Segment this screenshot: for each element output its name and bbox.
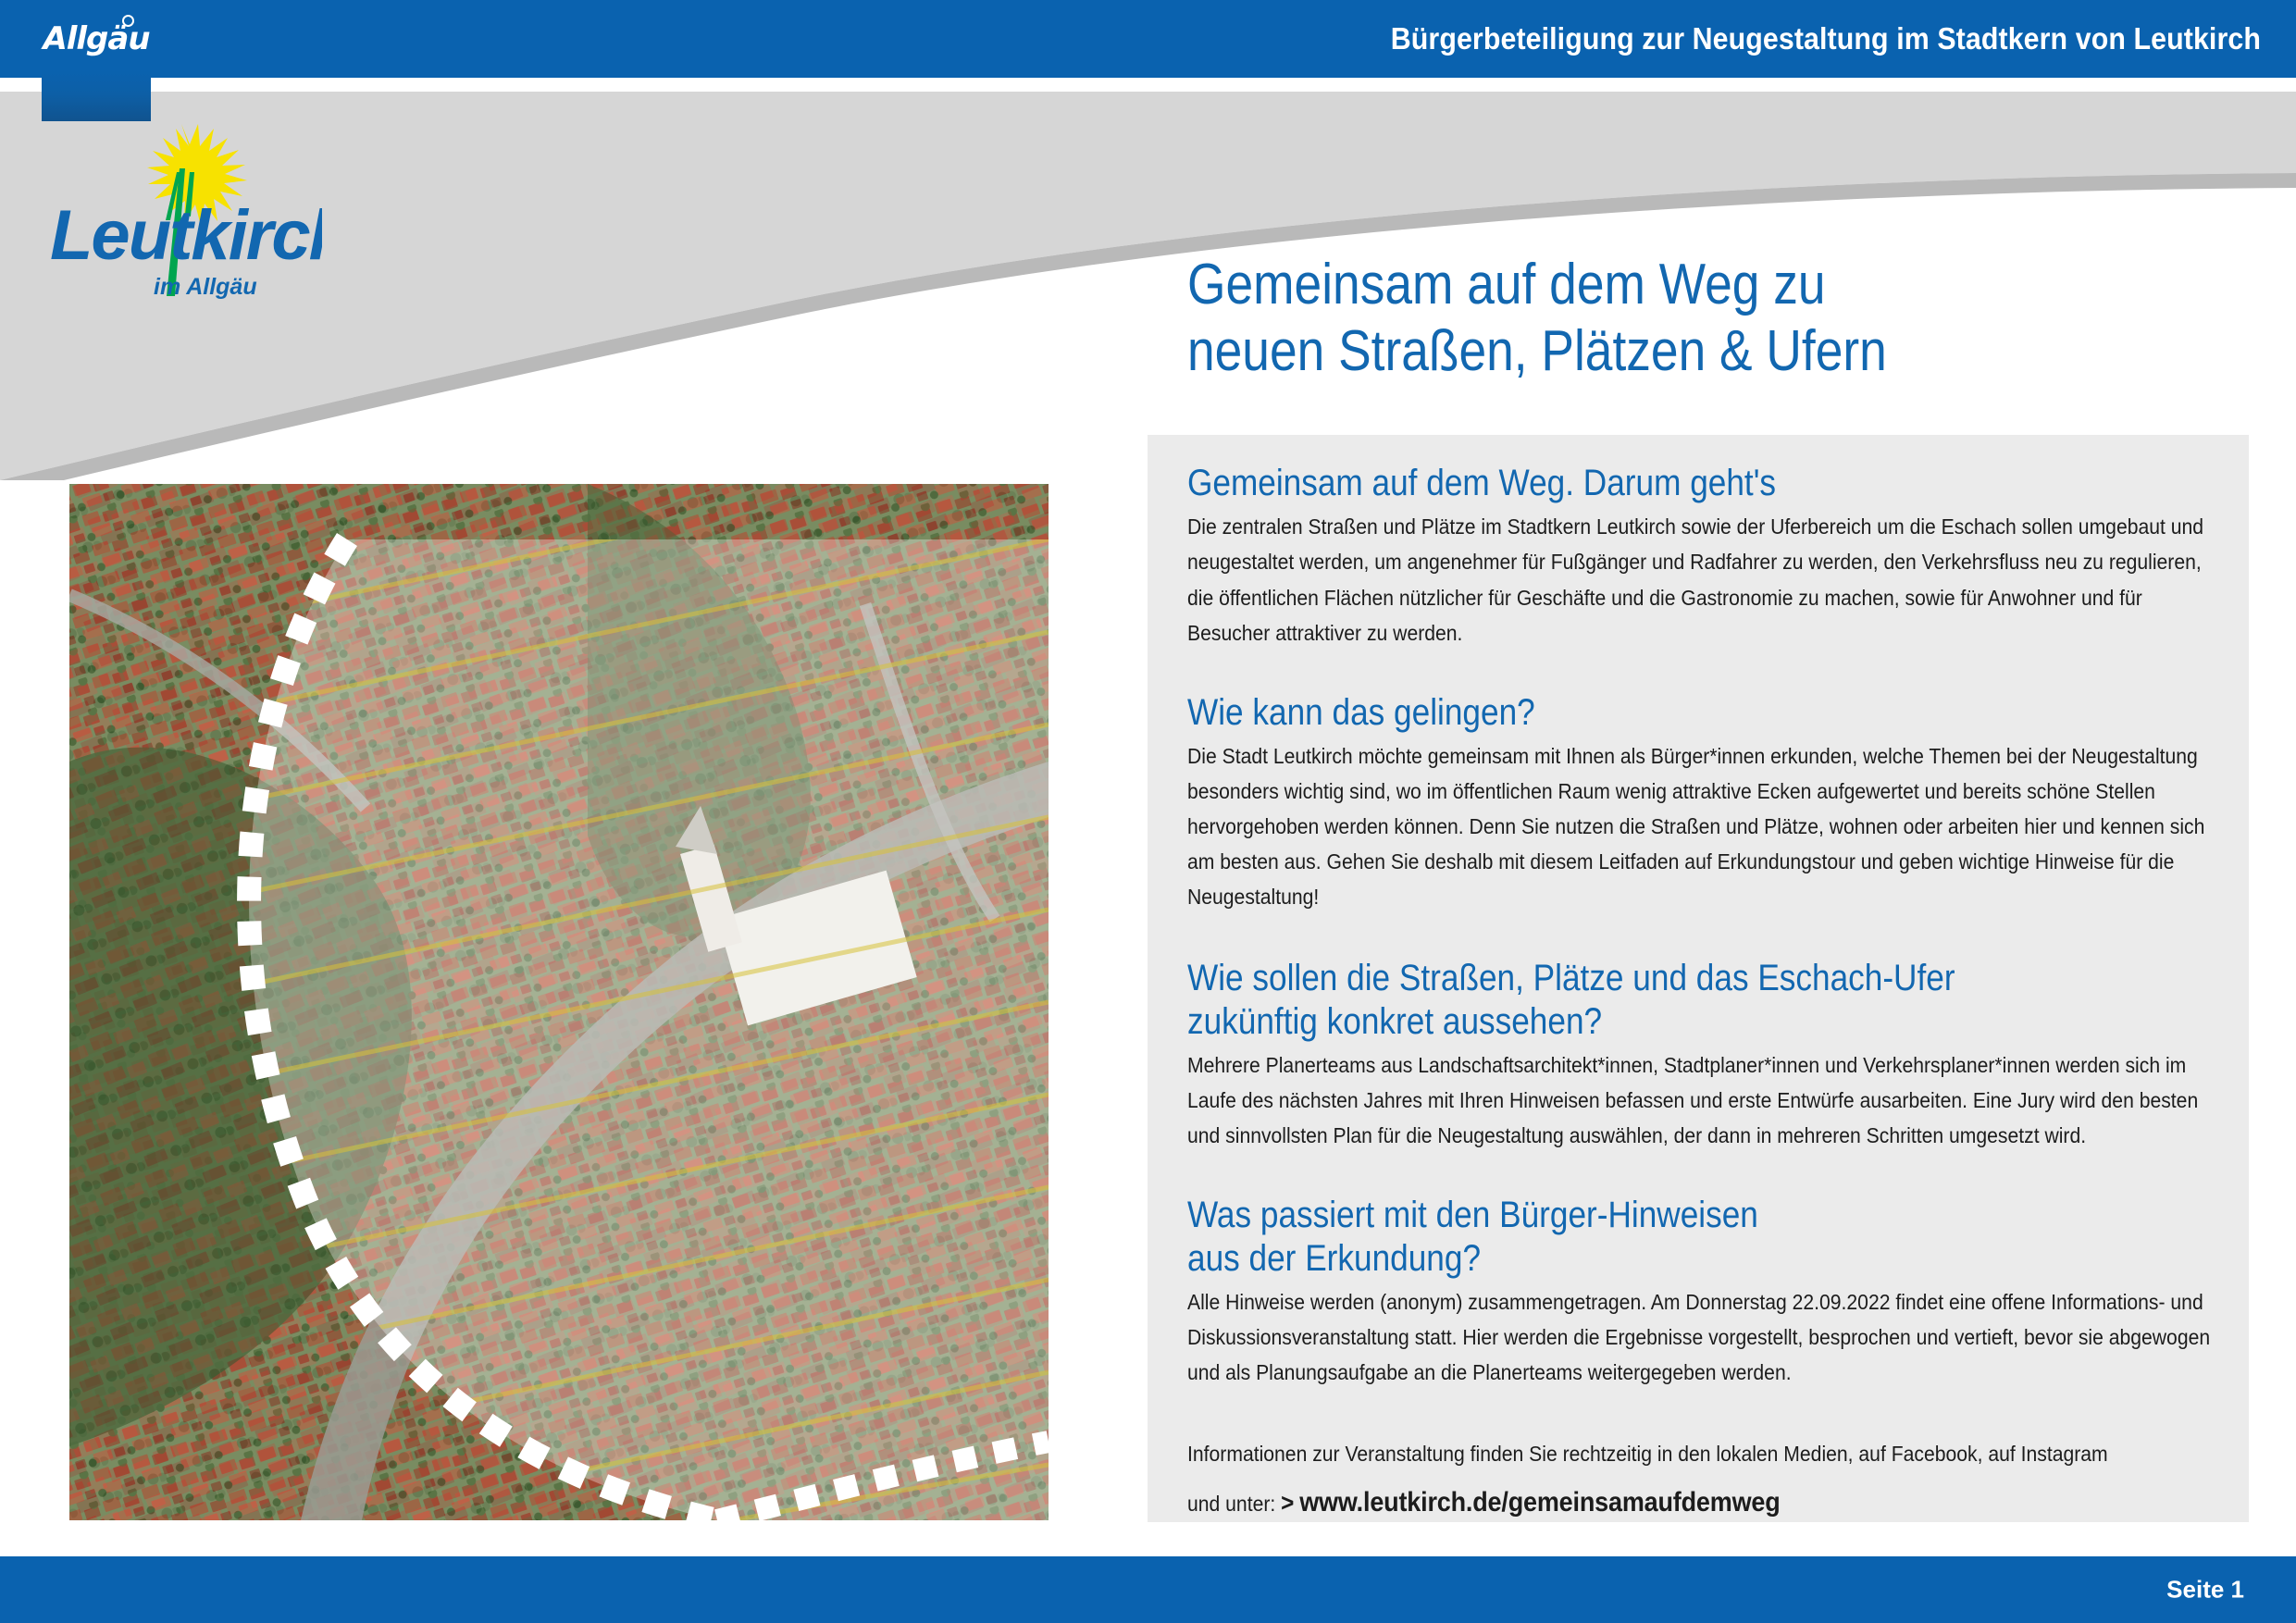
leutkirch-wordmark-text: Leutkirch xyxy=(50,196,322,275)
leutkirch-logo-graphic: Leutkirch im Allgäu xyxy=(44,111,322,315)
section-darum-gehts: Gemeinsam auf dem Weg. Darum geht's Die … xyxy=(1187,462,2215,650)
aerial-photo-graphic xyxy=(69,484,1049,1520)
leutkirch-tagline-text: im Allgäu xyxy=(154,274,257,300)
section-heading: Was passiert mit den Bürger-Hinweisen au… xyxy=(1187,1194,2215,1280)
section-heading-line-2: aus der Erkundung? xyxy=(1187,1237,2215,1280)
section-heading-line-2: zukünftig konkret aussehen? xyxy=(1187,1000,2215,1043)
headline-line-2: neuen Straßen, Plätzen & Ufern xyxy=(1187,318,2111,385)
section-heading-line-1: Wie sollen die Straßen, Plätze und das E… xyxy=(1187,957,2215,999)
outro-block: Informationen zur Veranstaltung finden S… xyxy=(1187,1436,2215,1526)
section-body: Die zentralen Straßen und Plätze im Stad… xyxy=(1187,509,2215,650)
section-heading-line-1: Wie kann das gelingen? xyxy=(1187,691,2215,734)
main-headline: Gemeinsam auf dem Weg zu neuen Straßen, … xyxy=(1187,252,2111,385)
allgaeu-brand-badge: Allgäu xyxy=(42,0,151,121)
section-body: Die Stadt Leutkirch möchte gemeinsam mit… xyxy=(1187,738,2215,914)
section-heading: Wie sollen die Straßen, Plätze und das E… xyxy=(1187,957,2215,1043)
chevron-right-icon: > xyxy=(1281,1489,1294,1517)
section-was-passiert: Was passiert mit den Bürger-Hinweisen au… xyxy=(1187,1194,2215,1390)
footer-bar: Seite 1 xyxy=(0,1556,2296,1623)
page-title: Bürgerbeteiligung zur Neugestaltung im S… xyxy=(1391,21,2261,56)
section-heading: Gemeinsam auf dem Weg. Darum geht's xyxy=(1187,462,2215,504)
top-header-bar: Bürgerbeteiligung zur Neugestaltung im S… xyxy=(0,0,2296,78)
allgaeu-badge-label: Allgäu xyxy=(43,20,149,57)
section-heading-line-1: Gemeinsam auf dem Weg. Darum geht's xyxy=(1187,462,2215,504)
allgaeu-wordmark: Allgäu xyxy=(42,20,151,57)
page-number-label: Seite 1 xyxy=(2166,1576,2244,1604)
outro-url-prefix: und unter: xyxy=(1187,1492,1275,1516)
outro-url-line: und unter: > www.leutkirch.de/gemeinsama… xyxy=(1187,1481,2215,1526)
section-wie-gelingen: Wie kann das gelingen? Die Stadt Leutkir… xyxy=(1187,691,2215,915)
section-body: Mehrere Planerteams aus Landschaftsarchi… xyxy=(1187,1047,2215,1153)
section-heading: Wie kann das gelingen? xyxy=(1187,691,2215,734)
outro-paragraph: Informationen zur Veranstaltung finden S… xyxy=(1187,1436,2215,1471)
allgaeu-ring-icon xyxy=(122,15,134,27)
headline-line-1: Gemeinsam auf dem Weg zu xyxy=(1187,253,1826,316)
section-body: Alle Hinweise werden (anonym) zusammenge… xyxy=(1187,1284,2215,1390)
website-link[interactable]: www.leutkirch.de/gemeinsamaufdemweg xyxy=(1299,1487,1780,1518)
content-panel: Gemeinsam auf dem Weg. Darum geht's Die … xyxy=(1148,435,2249,1522)
leutkirch-logo: Leutkirch im Allgäu xyxy=(44,111,322,315)
section-wie-aussehen: Wie sollen die Straßen, Plätze und das E… xyxy=(1187,957,2215,1153)
aerial-photo-leutkirch xyxy=(69,484,1049,1520)
section-heading-line-1: Was passiert mit den Bürger-Hinweisen xyxy=(1187,1194,2215,1236)
